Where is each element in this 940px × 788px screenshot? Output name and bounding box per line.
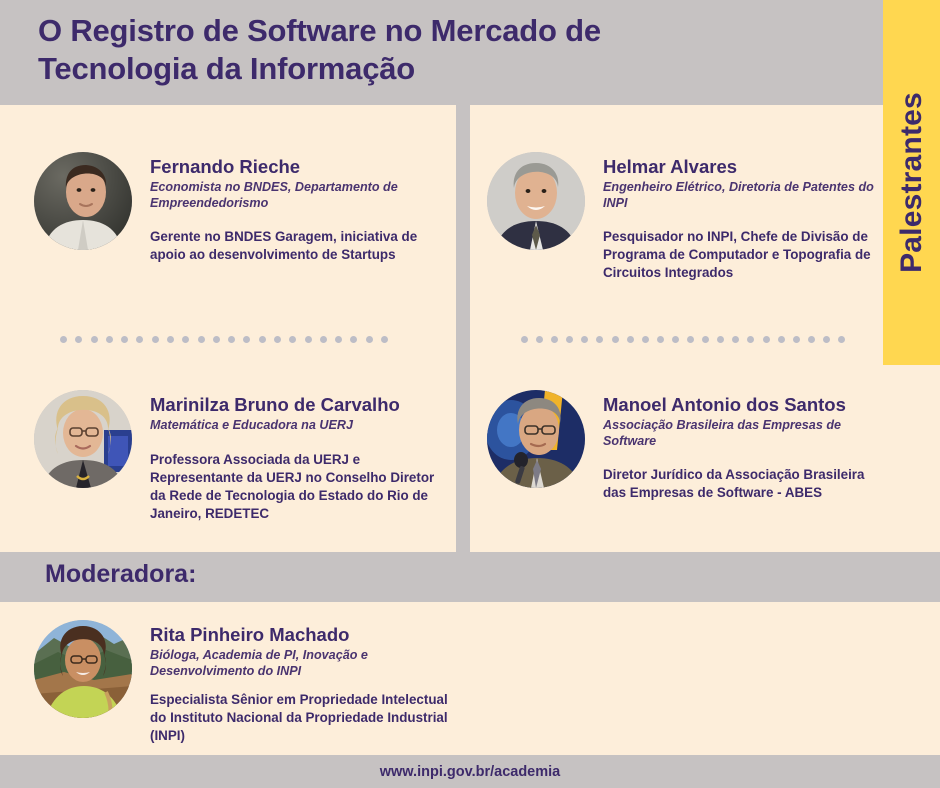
speaker-description: Pesquisador no INPI, Chefe de Divisão de… — [603, 228, 887, 283]
speaker-card-marinilza-bruno-de-carvalho: Marinilza Bruno de Carvalho Matemática e… — [34, 390, 449, 524]
speaker-role: Associação Brasileira das Empresas de So… — [603, 418, 887, 449]
speaker-card-helmar-alvares: Helmar Alvares Engenheiro Elétrico, Dire… — [487, 152, 887, 283]
speaker-role: Engenheiro Elétrico, Diretoria de Patent… — [603, 180, 887, 211]
avatar-marinilza-bruno-de-carvalho — [34, 390, 132, 488]
moderator-card-rita-pinheiro-machado: Rita Pinheiro Machado Bióloga, Academia … — [34, 620, 454, 746]
speaker-text-block: Manoel Antonio dos Santos Associação Bra… — [603, 390, 887, 502]
moderator-name: Rita Pinheiro Machado — [150, 624, 454, 645]
moderator-role: Bióloga, Academia de PI, Inovação e Dese… — [150, 648, 454, 679]
speaker-name: Fernando Rieche — [150, 156, 444, 177]
footer-url[interactable]: www.inpi.gov.br/academia — [380, 764, 561, 780]
moderadora-band: Moderadora: — [0, 552, 940, 602]
speaker-name: Marinilza Bruno de Carvalho — [150, 394, 449, 415]
avatar-fernando-rieche — [34, 152, 132, 250]
speaker-role: Economista no BNDES, Departamento de Emp… — [150, 180, 444, 211]
column-divider — [456, 105, 470, 552]
speaker-description: Diretor Jurídico da Associação Brasileir… — [603, 466, 887, 502]
speaker-role: Matemática e Educadora na UERJ — [150, 418, 449, 433]
side-tab-label: Palestrantes — [883, 0, 940, 365]
speaker-text-block: Helmar Alvares Engenheiro Elétrico, Dire… — [603, 152, 887, 283]
footer-band: www.inpi.gov.br/academia — [0, 755, 940, 788]
dotted-separator-left — [60, 335, 388, 343]
avatar-helmar-alvares — [487, 152, 585, 250]
dotted-separator-right — [521, 335, 845, 343]
speaker-description: Professora Associada da UERJ e Represent… — [150, 451, 449, 524]
moderator-text-block: Rita Pinheiro Machado Bióloga, Academia … — [150, 620, 454, 746]
speaker-description: Gerente no BNDES Garagem, iniciativa de … — [150, 228, 444, 264]
poster-canvas: O Registro de Software no Mercado de Tec… — [0, 0, 940, 788]
palestrantes-side-tab: Palestrantes — [883, 0, 940, 365]
moderator-description: Especialista Sênior em Propriedade Intel… — [150, 691, 454, 746]
speaker-name: Manoel Antonio dos Santos — [603, 394, 887, 415]
speaker-text-block: Fernando Rieche Economista no BNDES, Dep… — [150, 152, 444, 264]
moderadora-label: Moderadora: — [45, 560, 196, 589]
avatar-manoel-antonio-dos-santos — [487, 390, 585, 488]
speaker-name: Helmar Alvares — [603, 156, 887, 177]
speaker-card-fernando-rieche: Fernando Rieche Economista no BNDES, Dep… — [34, 152, 444, 264]
speaker-text-block: Marinilza Bruno de Carvalho Matemática e… — [150, 390, 449, 524]
speaker-card-manoel-antonio-dos-santos: Manoel Antonio dos Santos Associação Bra… — [487, 390, 887, 502]
page-title: O Registro de Software no Mercado de Tec… — [38, 12, 738, 88]
avatar-rita-pinheiro-machado — [34, 620, 132, 718]
